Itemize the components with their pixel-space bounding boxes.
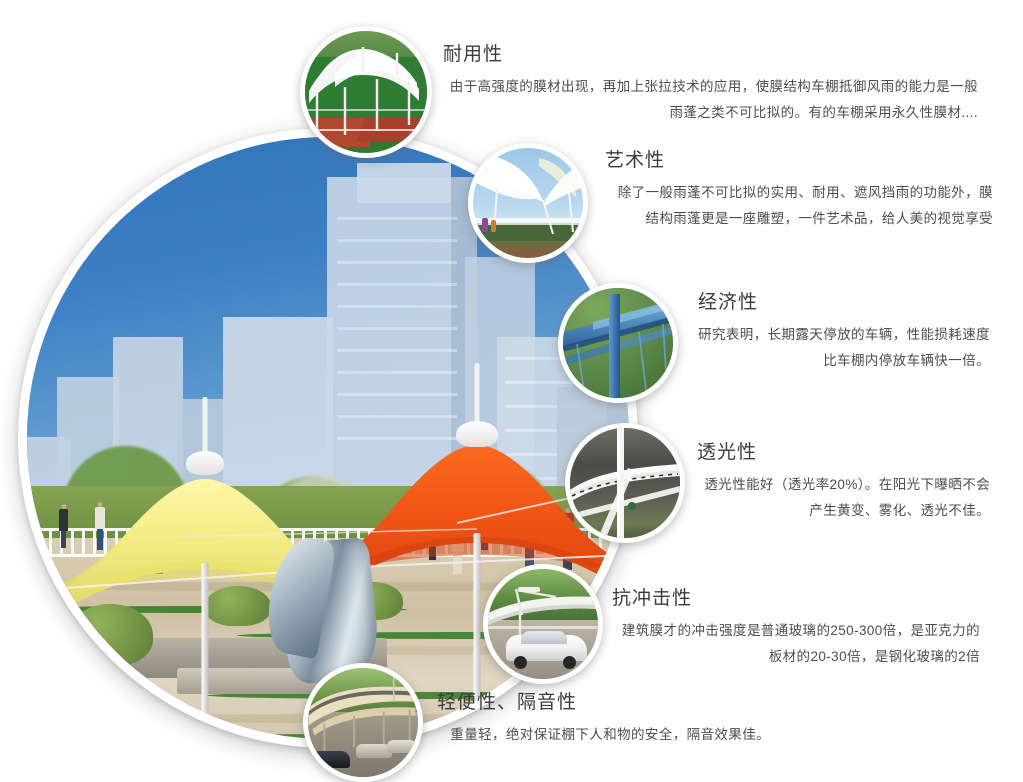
- feature-title-impact-resistance: 抗冲击性: [612, 588, 980, 611]
- white-frame-icon: [570, 428, 680, 538]
- feature-title-lightweight-soundproof: 轻便性、隔音性: [437, 692, 770, 715]
- thumb-impact-resistance[interactable]: [483, 564, 603, 684]
- feature-block-translucency: 透光性 透光性能好（透光率20%）。在阳光下曝晒不会产生黄变、雾化、透光不佳。: [697, 442, 990, 524]
- thumb-economy[interactable]: [558, 283, 678, 403]
- sail-membrane-icon: [473, 148, 583, 258]
- feature-body-durability: 由于高强度的膜材出现，再加上张拉技术的应用，使膜结构车棚抵御风雨的能力是一般雨蓬…: [443, 74, 978, 127]
- feature-title-translucency: 透光性: [697, 442, 990, 465]
- feature-body-lightweight-soundproof: 重量轻，绝对保证棚下人和物的安全，隔音效果佳。: [437, 722, 770, 748]
- thumb-durability[interactable]: [300, 26, 432, 158]
- feature-body-economy: 研究表明，长期露天停放的车辆，性能损耗速度比车棚内停放车辆快一倍。: [698, 322, 990, 375]
- blue-steel-frame-icon: [563, 288, 673, 398]
- feature-body-artistry: 除了一般雨蓬不可比拟的实用、耐用、遮风挡雨的功能外，膜结构雨蓬更是一座雕塑，一件…: [605, 180, 993, 233]
- thumb-translucency[interactable]: [565, 423, 685, 543]
- thumb-lightweight-soundproof[interactable]: [303, 663, 423, 782]
- poster-stage: 耐用性 由于高强度的膜材出现，再加上张拉技术的应用，使膜结构车棚抵御风雨的能力是…: [0, 0, 1023, 782]
- feature-title-durability: 耐用性: [443, 44, 978, 67]
- carport-roof-icon: [488, 569, 598, 679]
- feature-block-artistry: 艺术性 除了一般雨蓬不可比拟的实用、耐用、遮风挡雨的功能外，膜结构雨蓬更是一座雕…: [605, 150, 993, 232]
- feature-block-durability: 耐用性 由于高强度的膜材出现，再加上张拉技术的应用，使膜结构车棚抵御风雨的能力是…: [443, 44, 978, 126]
- feature-body-translucency: 透光性能好（透光率20%）。在阳光下曝晒不会产生黄变、雾化、透光不佳。: [697, 472, 990, 525]
- feature-title-economy: 经济性: [698, 292, 990, 315]
- white-canopy-icon: [305, 31, 427, 153]
- feature-block-impact-resistance: 抗冲击性 建筑膜才的冲击强度是普通玻璃的250-300倍，是亚克力的板材的20-…: [612, 588, 980, 670]
- feature-body-impact-resistance: 建筑膜才的冲击强度是普通玻璃的250-300倍，是亚克力的板材的20-30倍，是…: [612, 618, 980, 671]
- thumb-artistry[interactable]: [468, 143, 588, 263]
- feature-block-lightweight-soundproof: 轻便性、隔音性 重量轻，绝对保证棚下人和物的安全，隔音效果佳。: [437, 692, 770, 748]
- feature-title-artistry: 艺术性: [605, 150, 993, 173]
- feature-block-economy: 经济性 研究表明，长期露天停放的车辆，性能损耗速度比车棚内停放车辆快一倍。: [698, 292, 990, 374]
